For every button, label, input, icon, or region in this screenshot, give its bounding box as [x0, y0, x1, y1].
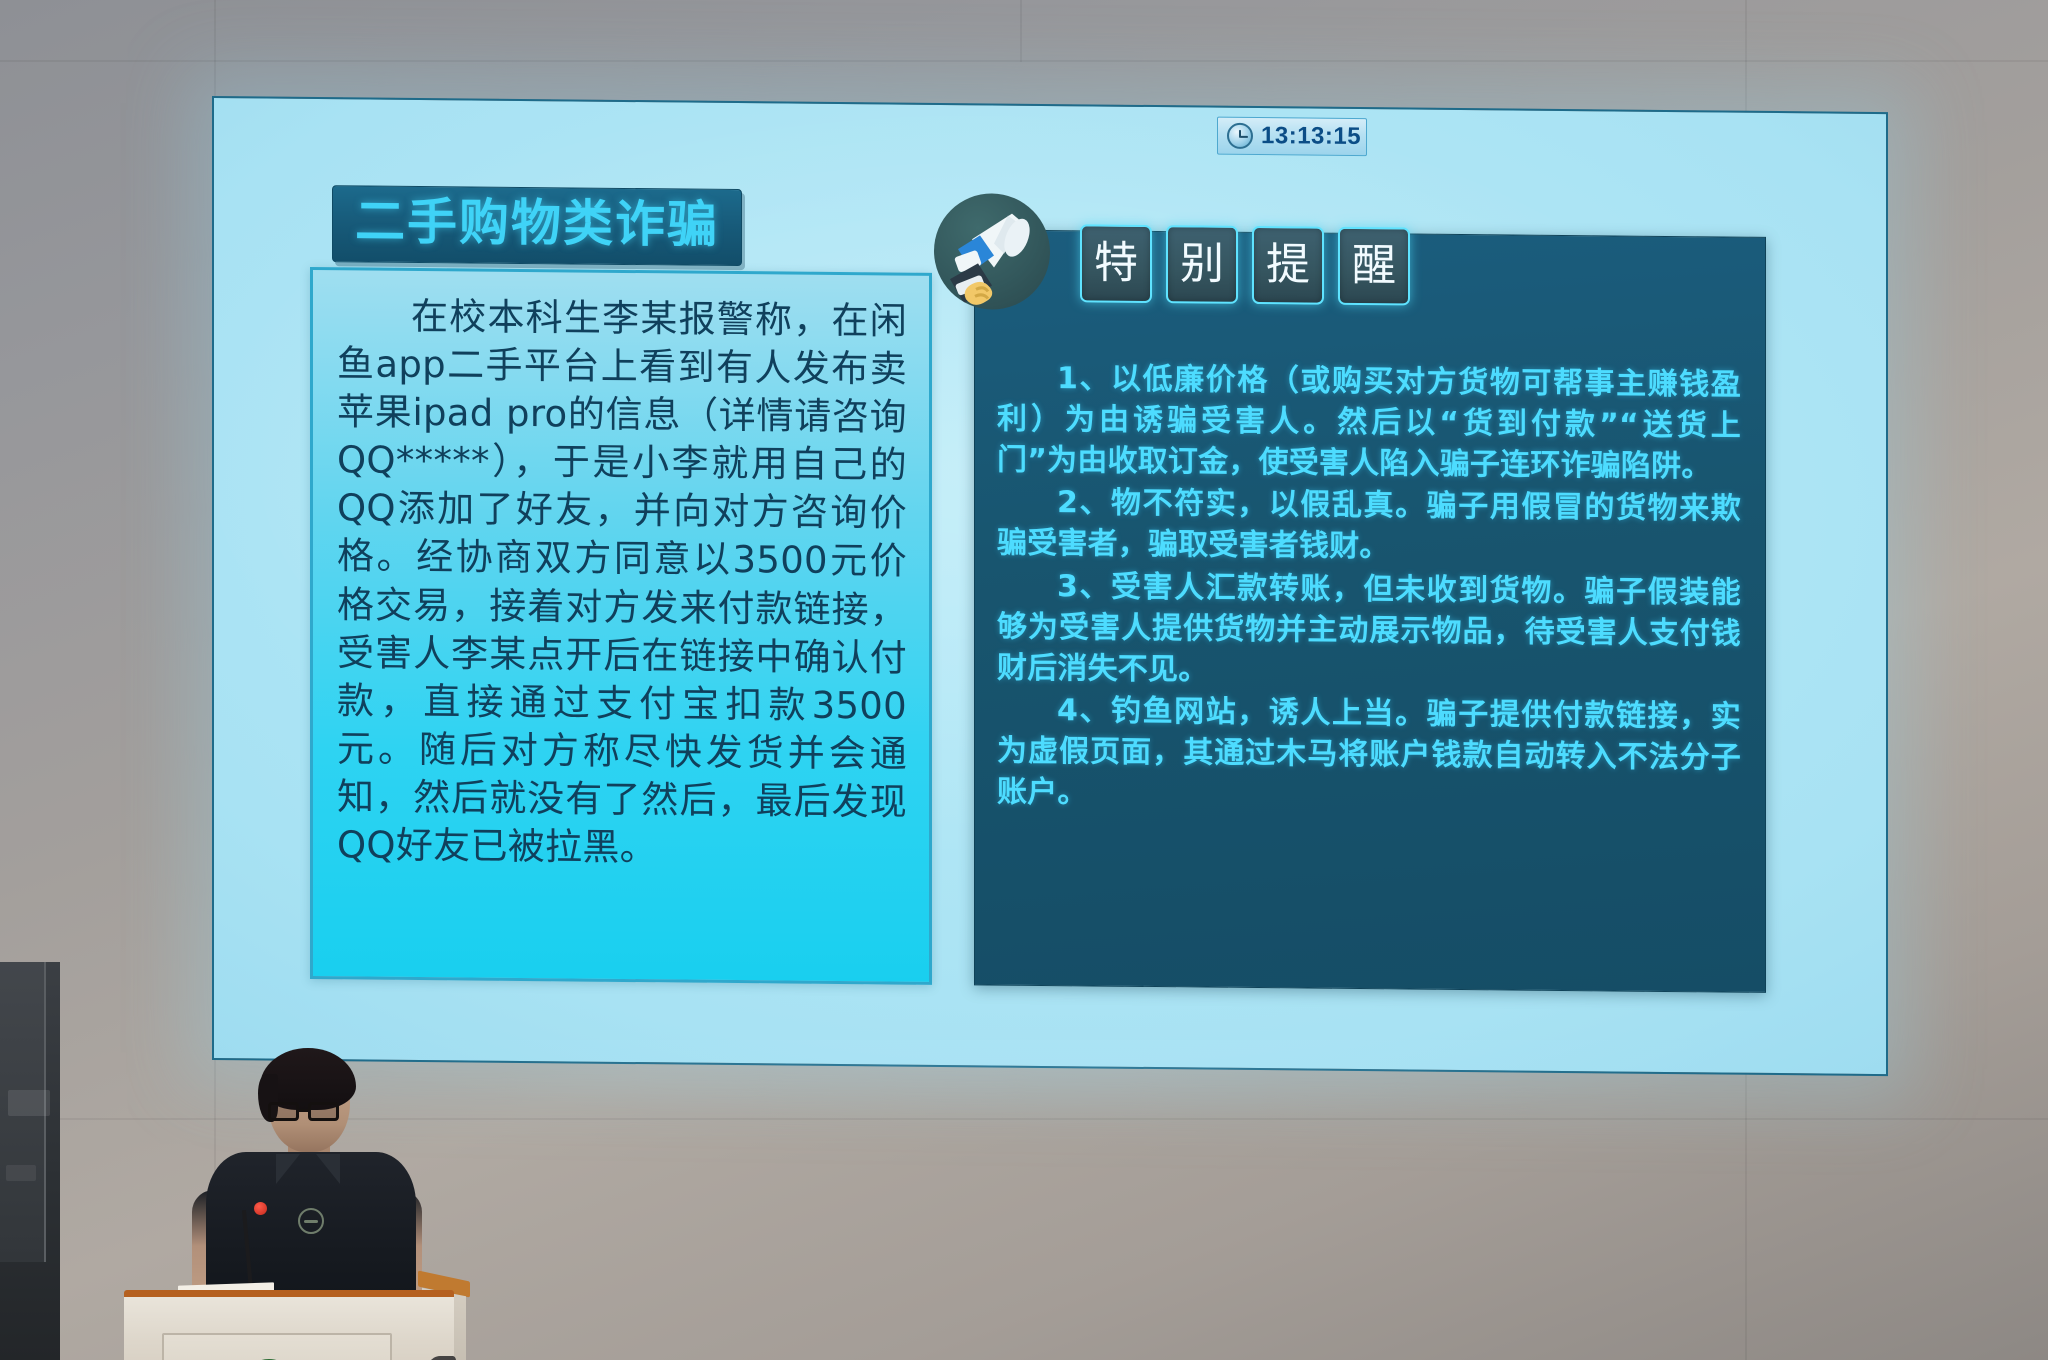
side-panel-marking	[6, 1165, 36, 1181]
glasses-lens	[268, 1102, 299, 1121]
glasses-icon	[268, 1102, 348, 1122]
special-reminder-header: 特 别 提 醒	[934, 193, 1410, 314]
clock-icon	[1227, 123, 1253, 149]
wall-seam	[0, 60, 2048, 62]
reminder-char: 醒	[1338, 227, 1410, 306]
list-item: 2、物不符实，以假乱真。骗子用假冒的货物来欺骗受害者，骗取受害者钱财。	[997, 483, 1741, 572]
page-title: 二手购物类诈骗	[355, 195, 719, 251]
clock-badge: 13:13:15	[1217, 117, 1367, 156]
presenter	[150, 1040, 510, 1360]
glasses-bridge	[299, 1109, 308, 1112]
presenter-collar	[276, 1154, 300, 1184]
podium	[124, 1290, 454, 1360]
slide-title-plaque: 二手购物类诈骗	[332, 185, 742, 265]
microphone-icon	[254, 1202, 267, 1215]
side-panel-marking	[8, 1090, 50, 1116]
special-reminder-panel: 1、以低廉价格（或购买对方货物可帮事主赚钱盈利）为由诱骗受害人。然后以“货到付款…	[974, 229, 1766, 993]
list-item: 4、钓鱼网站，诱人上当。骗子提供付款链接，实为虚假页面，其通过木马将账户钱款自动…	[997, 691, 1741, 821]
clock-time: 13:13:15	[1261, 124, 1361, 149]
reminder-char-boxes: 特 别 提 醒	[1080, 224, 1410, 305]
presenter-collar	[316, 1154, 340, 1184]
presentation-slide: 13:13:15 二手购物类诈骗 在校本科生李某报警称，在闲鱼app二手平台上看…	[212, 96, 1888, 1076]
list-item: 3、受害人汇款转账，但未收到货物。骗子假装能够为受害人提供货物并主动展示物品，待…	[997, 567, 1741, 697]
reminder-char: 提	[1252, 226, 1324, 305]
podium-front-panel	[162, 1333, 392, 1360]
reminder-tips-list: 1、以低廉价格（或购买对方货物可帮事主赚钱盈利）为由诱骗受害人。然后以“货到付款…	[975, 358, 1767, 822]
case-description-text: 在校本科生李某报警称，在闲鱼app二手平台上看到有人发布卖苹果ipad pro的…	[337, 292, 907, 875]
list-item: 1、以低廉价格（或购买对方货物可帮事主赚钱盈利）为由诱骗受害人。然后以“货到付款…	[997, 359, 1741, 489]
megaphone-icon	[934, 193, 1050, 310]
glasses-lens	[308, 1102, 339, 1121]
shirt-logo	[298, 1208, 324, 1234]
case-description-card: 在校本科生李某报警称，在闲鱼app二手平台上看到有人发布卖苹果ipad pro的…	[310, 267, 932, 985]
wall-seam	[1020, 0, 1022, 62]
reminder-char: 别	[1166, 225, 1238, 304]
projection-screen: 13:13:15 二手购物类诈骗 在校本科生李某报警称，在闲鱼app二手平台上看…	[212, 96, 1888, 1076]
reminder-char: 特	[1080, 224, 1152, 303]
lecture-room: 13:13:15 二手购物类诈骗 在校本科生李某报警称，在闲鱼app二手平台上看…	[0, 0, 2048, 1360]
